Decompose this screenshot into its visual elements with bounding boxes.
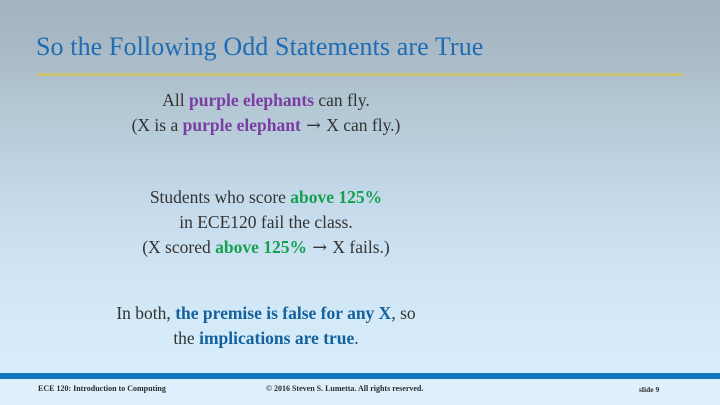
spacer-after-grade-block (34, 261, 498, 301)
line-elephant-implication: (X is a purple elephant → X can fly.) (34, 113, 498, 139)
highlight-above-125-claim: above 125% (290, 187, 382, 207)
presentation-slide: So the Following Odd Statements are True… (0, 0, 720, 405)
statement-block-elephant: All purple elephants can fly. (X is a pu… (34, 88, 498, 139)
text-students-who-score: Students who score (150, 187, 290, 207)
footer-copyright-label: © 2016 Steven S. Lumetta. All rights res… (266, 384, 423, 393)
text-in-both: In both, (116, 303, 175, 323)
text-x-scored: (X scored (142, 237, 215, 257)
text-the: the (173, 328, 199, 348)
slide-body-content: All purple elephants can fly. (X is a pu… (34, 88, 498, 351)
text-x-is-a: (X is a (132, 115, 183, 135)
text-x-fails: X fails.) (328, 237, 390, 257)
line-grade-claim-1: Students who score above 125% (34, 185, 498, 210)
highlight-purple-elephant: purple elephant (183, 115, 301, 135)
text-can-fly: can fly. (314, 90, 370, 110)
text-all: All (162, 90, 189, 110)
highlight-premise-is-false: the premise is false for any X (175, 303, 391, 323)
footer-slide-number: slide 9 (639, 385, 659, 394)
line-grade-implication: (X scored above 125% → X fails.) (34, 235, 498, 261)
line-grade-claim-2: in ECE120 fail the class. (34, 210, 498, 235)
implication-arrow-icon: → (305, 116, 322, 136)
line-elephant-claim: All purple elephants can fly. (34, 88, 498, 113)
text-so: , so (391, 303, 415, 323)
spacer-after-elephant-block (34, 139, 498, 185)
page-title: So the Following Odd Statements are True (36, 30, 686, 64)
implication-arrow-icon-2: → (311, 238, 328, 258)
highlight-purple-elephants: purple elephants (189, 90, 314, 110)
highlight-implications-are-true: implications are true (199, 328, 354, 348)
title-underline-rule (36, 73, 683, 76)
line-conclusion-1: In both, the premise is false for any X,… (34, 301, 498, 326)
highlight-above-125-implication: above 125% (215, 237, 307, 257)
text-in-ece120-fail: in ECE120 fail the class. (179, 212, 353, 232)
text-period: . (354, 328, 358, 348)
footer-course-label: ECE 120: Introduction to Computing (38, 384, 166, 393)
title-zone: So the Following Odd Statements are True (36, 30, 686, 76)
text-x-can-fly: X can fly.) (322, 115, 401, 135)
statement-block-grades: Students who score above 125% in ECE120 … (34, 185, 498, 261)
slide-footer: ECE 120: Introduction to Computing © 201… (0, 379, 720, 405)
conclusion-block: In both, the premise is false for any X,… (34, 301, 498, 351)
line-conclusion-2: the implications are true. (34, 326, 498, 351)
